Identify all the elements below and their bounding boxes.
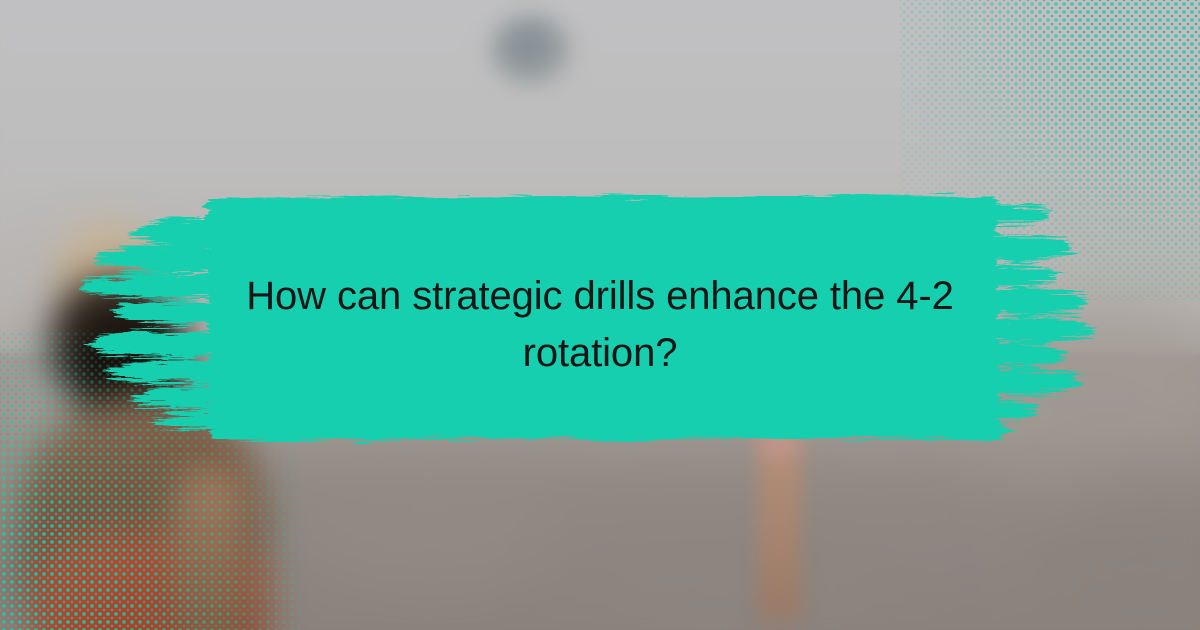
page-title: How can strategic drills enhance the 4-2… — [230, 268, 970, 382]
social-card-canvas: How can strategic drills enhance the 4-2… — [0, 0, 1200, 630]
